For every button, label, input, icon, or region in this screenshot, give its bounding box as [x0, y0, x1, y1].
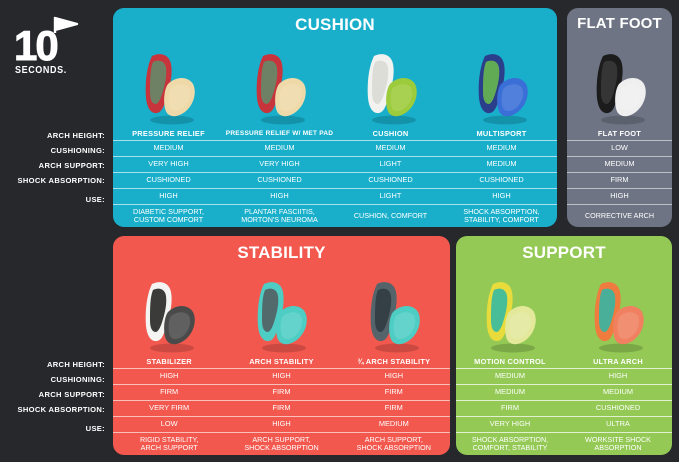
brand-logo: 10 SECONDS.	[8, 14, 98, 76]
product-art	[335, 38, 446, 126]
spec-cell-shock_absorption: HIGH	[446, 188, 557, 204]
spec-cell-cushioning: VERY HIGH	[113, 156, 224, 172]
spec-cell-arch_height: HIGH	[338, 368, 450, 384]
row-label-0: ARCH HEIGHT:	[0, 357, 110, 372]
insole-image	[363, 274, 425, 354]
product-art	[225, 266, 337, 354]
row-label-2: ARCH SUPPORT:	[0, 387, 110, 402]
insole-image	[360, 46, 422, 126]
spec-cell-cushioning: FIRM	[113, 384, 225, 400]
insole-image	[587, 274, 649, 354]
spec-cell-arch_height: LOW	[567, 140, 672, 156]
product-art	[113, 38, 224, 126]
product-column[interactable]: MOTION CONTROLMEDIUMMEDIUMFIRMVERY HIGHS…	[456, 266, 564, 455]
product-column[interactable]: FLAT FOOTLOWMEDIUMFIRMHIGHCORRECTIVE ARC…	[567, 38, 672, 227]
spec-cell-arch_support: CUSHIONED	[564, 400, 672, 416]
spec-cell-arch_height: HIGH	[225, 368, 337, 384]
product-name: ¾ ARCH STABILITY	[338, 354, 450, 368]
spec-cell-use: ARCH SUPPORT, SHOCK ABSORPTION	[225, 432, 337, 455]
product-name: MULTISPORT	[446, 126, 557, 140]
spec-cell-arch_support: CUSHIONED	[224, 172, 335, 188]
spec-cell-cushioning: FIRM	[338, 384, 450, 400]
spec-cell-arch_height: MEDIUM	[456, 368, 564, 384]
product-art	[446, 38, 557, 126]
spec-cell-arch_support: FIRM	[338, 400, 450, 416]
spec-cell-shock_absorption: LIGHT	[335, 188, 446, 204]
insole-image	[138, 46, 200, 126]
spec-cell-arch_support: CUSHIONED	[446, 172, 557, 188]
row-label-2: ARCH SUPPORT:	[0, 158, 110, 173]
product-art	[564, 266, 672, 354]
insole-image	[589, 46, 651, 126]
insole-image	[471, 46, 533, 126]
product-column[interactable]: PRESSURE RELIEF W/ MET PADMEDIUMVERY HIG…	[224, 38, 335, 227]
product-name: PRESSURE RELIEF	[113, 126, 224, 140]
spec-cell-arch_height: MEDIUM	[224, 140, 335, 156]
spec-cell-shock_absorption: HIGH	[224, 188, 335, 204]
spec-cell-arch_height: MEDIUM	[335, 140, 446, 156]
row-label-4: USE:	[0, 417, 110, 439]
infographic-root: 10 SECONDS. ARCH HEIGHT:CUSHIONING:ARCH …	[0, 0, 679, 462]
product-name: CUSHION	[335, 126, 446, 140]
product-columns-support: MOTION CONTROLMEDIUMMEDIUMFIRMVERY HIGHS…	[456, 266, 672, 455]
spec-cell-arch_support: FIRM	[567, 172, 672, 188]
spec-cell-cushioning: MEDIUM	[446, 156, 557, 172]
spec-cell-arch_height: MEDIUM	[446, 140, 557, 156]
spec-cell-use: WORKSITE SHOCK ABSORPTION	[564, 432, 672, 455]
product-art	[456, 266, 564, 354]
spec-cell-arch_support: CUSHIONED	[113, 172, 224, 188]
insole-image	[249, 46, 311, 126]
spec-cell-shock_absorption: LOW	[113, 416, 225, 432]
spec-cell-shock_absorption: VERY HIGH	[456, 416, 564, 432]
spec-cell-shock_absorption: HIGH	[567, 188, 672, 204]
spec-cell-use: CORRECTIVE ARCH	[567, 204, 672, 227]
row-label-1: CUSHIONING:	[0, 143, 110, 158]
row-label-rail-top: ARCH HEIGHT:CUSHIONING:ARCH SUPPORT:SHOC…	[0, 128, 110, 210]
brand-word: SECONDS.	[15, 64, 67, 76]
spec-cell-arch_support: VERY FIRM	[113, 400, 225, 416]
spec-cell-arch_support: FIRM	[225, 400, 337, 416]
product-name: STABILIZER	[113, 354, 225, 368]
spec-cell-use: DIABETIC SUPPORT, CUSTOM COMFORT	[113, 204, 224, 227]
product-column[interactable]: MULTISPORTMEDIUMMEDIUMCUSHIONEDHIGHSHOCK…	[446, 38, 557, 227]
spec-cell-shock_absorption: MEDIUM	[338, 416, 450, 432]
spec-cell-cushioning: LIGHT	[335, 156, 446, 172]
product-column[interactable]: PRESSURE RELIEFMEDIUMVERY HIGHCUSHIONEDH…	[113, 38, 224, 227]
panel-title-support: SUPPORT	[456, 243, 672, 263]
spec-cell-cushioning: FIRM	[225, 384, 337, 400]
row-label-3: SHOCK ABSORPTION:	[0, 173, 110, 188]
row-label-1: CUSHIONING:	[0, 372, 110, 387]
product-column[interactable]: ULTRA ARCHHIGHMEDIUMCUSHIONEDULTRAWORKSI…	[564, 266, 672, 455]
product-art	[338, 266, 450, 354]
spec-cell-shock_absorption: HIGH	[225, 416, 337, 432]
insole-image	[479, 274, 541, 354]
spec-cell-cushioning: MEDIUM	[567, 156, 672, 172]
insole-image	[250, 274, 312, 354]
spec-cell-shock_absorption: ULTRA	[564, 416, 672, 432]
row-label-0: ARCH HEIGHT:	[0, 128, 110, 143]
spec-cell-arch_height: HIGH	[113, 368, 225, 384]
panel-cushion: CUSHIONPRESSURE RELIEFMEDIUMVERY HIGHCUS…	[113, 8, 557, 227]
spec-cell-use: SHOCK ABSORPTION, STABILITY, COMFORT	[446, 204, 557, 227]
spec-cell-arch_height: MEDIUM	[113, 140, 224, 156]
spec-cell-arch_support: CUSHIONED	[335, 172, 446, 188]
product-columns-cushion: PRESSURE RELIEFMEDIUMVERY HIGHCUSHIONEDH…	[113, 38, 557, 227]
panel-title-flat-foot: FLAT FOOT	[567, 15, 672, 32]
product-name: PRESSURE RELIEF W/ MET PAD	[224, 126, 335, 140]
spec-cell-cushioning: VERY HIGH	[224, 156, 335, 172]
spec-cell-shock_absorption: HIGH	[113, 188, 224, 204]
panel-flat-foot: FLAT FOOTFLAT FOOTLOWMEDIUMFIRMHIGHCORRE…	[567, 8, 672, 227]
product-art	[113, 266, 225, 354]
panel-stability: STABILITYSTABILIZERHIGHFIRMVERY FIRMLOWR…	[113, 236, 450, 455]
product-name: MOTION CONTROL	[456, 354, 564, 368]
spec-cell-cushioning: MEDIUM	[456, 384, 564, 400]
spec-cell-use: PLANTAR FASCIITIS, MORTON'S NEUROMA	[224, 204, 335, 227]
row-label-rail-bottom: ARCH HEIGHT:CUSHIONING:ARCH SUPPORT:SHOC…	[0, 357, 110, 439]
panel-title-cushion: CUSHION	[113, 15, 557, 35]
panel-title-stability: STABILITY	[113, 243, 450, 263]
product-art	[224, 38, 335, 126]
row-label-3: SHOCK ABSORPTION:	[0, 402, 110, 417]
row-label-4: USE:	[0, 188, 110, 210]
spec-cell-use: CUSHION, COMFORT	[335, 204, 446, 227]
spec-cell-use: ARCH SUPPORT, SHOCK ABSORPTION	[338, 432, 450, 455]
product-name: FLAT FOOT	[567, 126, 672, 140]
product-column[interactable]: ARCH STABILITYHIGHFIRMFIRMHIGHARCH SUPPO…	[225, 266, 337, 455]
product-name: ULTRA ARCH	[564, 354, 672, 368]
product-column[interactable]: ¾ ARCH STABILITYHIGHFIRMFIRMMEDIUMARCH S…	[338, 266, 450, 455]
spec-cell-use: RIGID STABILITY, ARCH SUPPORT	[113, 432, 225, 455]
panel-support: SUPPORTMOTION CONTROLMEDIUMMEDIUMFIRMVER…	[456, 236, 672, 455]
spec-cell-cushioning: MEDIUM	[564, 384, 672, 400]
product-name: ARCH STABILITY	[225, 354, 337, 368]
spec-cell-use: SHOCK ABSORPTION, COMFORT, STABILITY	[456, 432, 564, 455]
spec-cell-arch_support: FIRM	[456, 400, 564, 416]
insole-image	[138, 274, 200, 354]
product-column[interactable]: CUSHIONMEDIUMLIGHTCUSHIONEDLIGHTCUSHION,…	[335, 38, 446, 227]
product-column[interactable]: STABILIZERHIGHFIRMVERY FIRMLOWRIGID STAB…	[113, 266, 225, 455]
brand-number: 10	[14, 26, 57, 66]
product-art	[567, 38, 672, 126]
product-columns-stability: STABILIZERHIGHFIRMVERY FIRMLOWRIGID STAB…	[113, 266, 450, 455]
spec-cell-arch_height: HIGH	[564, 368, 672, 384]
product-columns-flat-foot: FLAT FOOTLOWMEDIUMFIRMHIGHCORRECTIVE ARC…	[567, 38, 672, 227]
